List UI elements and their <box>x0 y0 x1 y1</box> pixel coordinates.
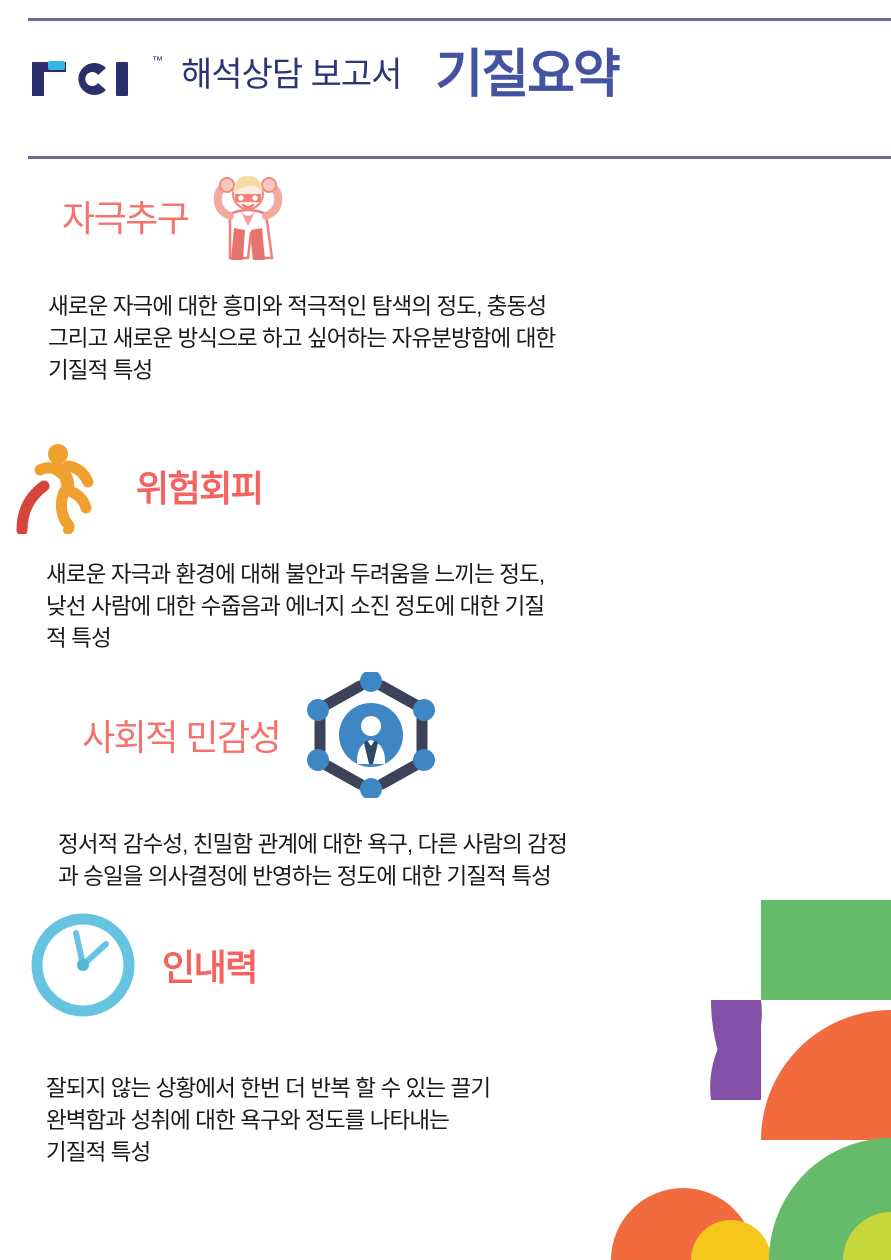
lime-quarter-shape <box>843 1212 891 1260</box>
section-heading: 인내력 <box>0 908 891 1027</box>
tci-logo: ™ <box>28 52 163 100</box>
yellow-half-circle-shape <box>691 1220 771 1260</box>
section-harm-avoidance: 위험회피 새로운 자극과 환경에 대해 불안과 두려움을 느끼는 정도, 낮선 … <box>0 438 891 655</box>
orange-half-circle-shape <box>611 1188 755 1260</box>
header-rule-bottom <box>28 156 891 159</box>
section-heading: 자극추구 <box>0 170 891 267</box>
section-heading: 위험회피 <box>0 438 891 539</box>
section-title-reward-dependence: 사회적 민감성 <box>82 720 280 756</box>
trademark-symbol: ™ <box>152 56 163 67</box>
section-body-harm-avoidance: 새로운 자극과 환경에 대해 불안과 두려움을 느끼는 정도, 낮선 사람에 대… <box>0 559 891 655</box>
section-persistence: 인내력 잘되지 않는 상황에서 한번 더 반복 할 수 있는 끌기 완벽함과 성… <box>0 908 891 1169</box>
report-label: 해석상담 보고서 <box>181 58 401 94</box>
section-heading: 사회적 민감성 <box>0 672 891 803</box>
section-body-novelty-seeking: 새로운 자극에 대한 흥미와 적극적인 탐색의 정도, 충동성 그리고 새로운 … <box>0 291 891 387</box>
social-network-person-icon <box>304 672 438 803</box>
section-title-harm-avoidance: 위험회피 <box>136 471 262 507</box>
tci-temperament-summary-page: ™ 해석상담 보고서 기질요약 자극추구 <box>0 0 891 1260</box>
page-header: ™ 해석상담 보고서 기질요약 <box>28 38 619 114</box>
header-rule-top <box>28 18 891 21</box>
section-title-persistence: 인내력 <box>162 950 257 986</box>
page-title: 기질요약 <box>435 49 618 103</box>
flexing-superhero-icon <box>194 170 302 267</box>
clock-icon <box>26 908 140 1027</box>
section-reward-dependence: 사회적 민감성 <box>0 672 891 893</box>
running-figure-icon <box>10 438 122 539</box>
section-novelty-seeking: 자극추구 <box>0 170 891 387</box>
section-body-persistence: 잘되지 않는 상황에서 한번 더 반복 할 수 있는 끌기 완벽함과 성취에 대… <box>0 1073 891 1169</box>
section-title-novelty-seeking: 자극추구 <box>62 201 188 237</box>
section-body-reward-dependence: 정서적 감수성, 친밀함 관계에 대한 욕구, 다른 사람의 감정 과 승일을 … <box>0 829 891 893</box>
